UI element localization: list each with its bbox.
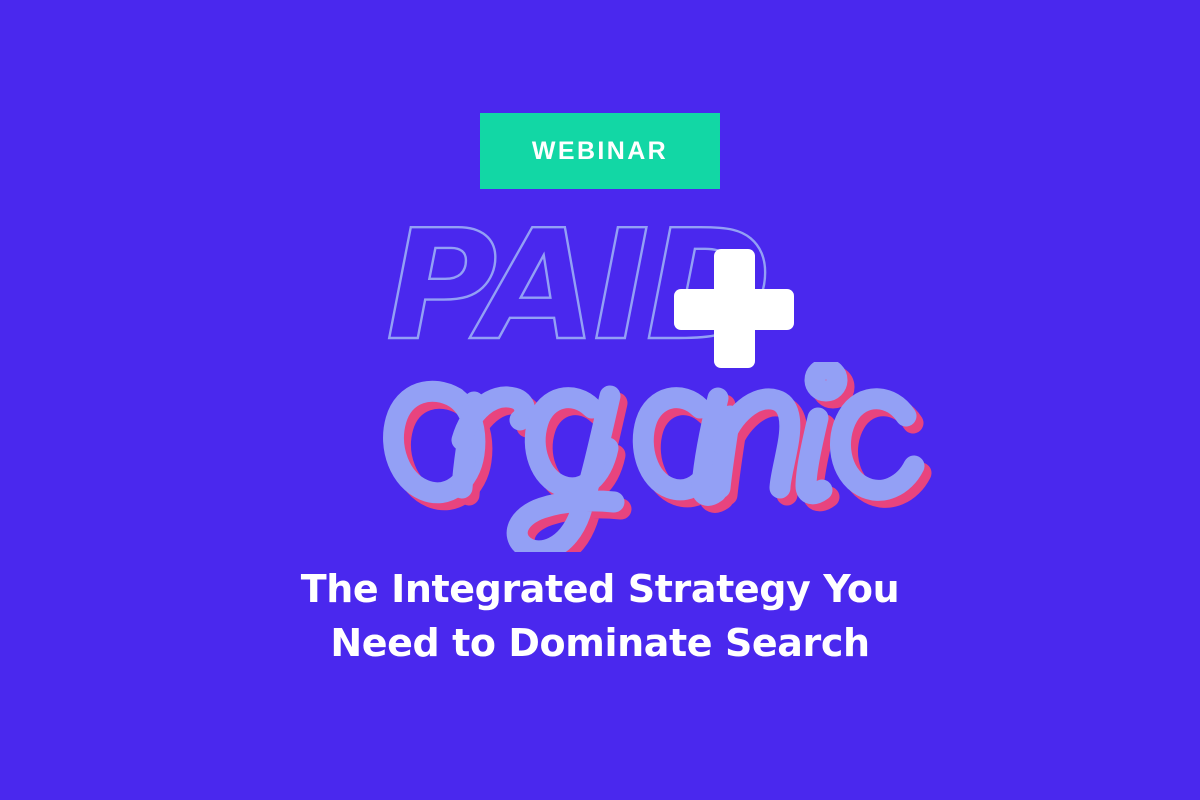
- organic-script-graphic: organic: [0, 362, 1200, 552]
- subtitle-line-1: The Integrated Strategy You: [0, 562, 1200, 616]
- organic-fill-layer: [394, 369, 914, 551]
- webinar-badge-label: WEBINAR: [532, 139, 668, 164]
- subtitle-line-2: Need to Dominate Search: [0, 616, 1200, 670]
- headline-organic-script: organic: [0, 362, 1200, 552]
- webinar-promo-poster: WEBINAR PAID: [0, 0, 1200, 800]
- poster-subtitle: The Integrated Strategy You Need to Domi…: [0, 562, 1200, 670]
- webinar-badge: WEBINAR: [480, 113, 720, 189]
